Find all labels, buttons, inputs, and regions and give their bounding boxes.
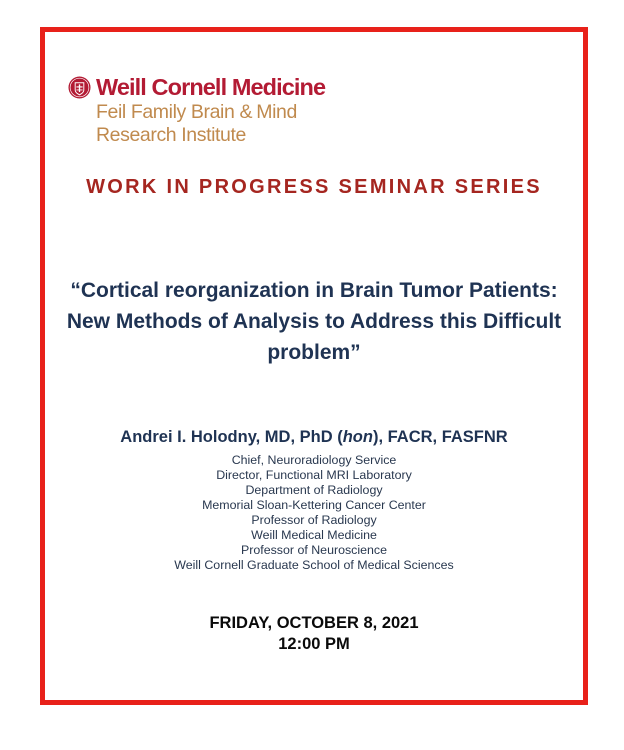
speaker-name-suffix: ), FACR, FASFNR: [373, 428, 508, 446]
red-border-frame: Weill Cornell Medicine Feil Family Brain…: [40, 27, 588, 705]
speaker-name-prefix: Andrei I. Holodny, MD, PhD (: [120, 428, 342, 446]
ampersand: &: [239, 101, 251, 123]
weill-cornell-seal-icon: [68, 76, 91, 99]
speaker-name: Andrei I. Holodny, MD, PhD (hon), FACR, …: [45, 427, 583, 447]
affiliation-line: Professor of Neuroscience: [45, 543, 583, 558]
institute-text-a: Feil Family Brain: [96, 101, 234, 123]
institute-line-2: Research Institute: [96, 125, 488, 146]
logo-row: Weill Cornell Medicine: [68, 76, 488, 100]
affiliation-line: Professor of Radiology: [45, 513, 583, 528]
institute-line-1: Feil Family Brain & Mind: [96, 102, 488, 123]
event-time: 12:00 PM: [45, 634, 583, 655]
weill-cornell-logo: Weill Cornell Medicine Feil Family Brain…: [68, 76, 488, 146]
affiliation-line: Memorial Sloan-Kettering Cancer Center: [45, 498, 583, 513]
affiliation-line: Chief, Neuroradiology Service: [45, 453, 583, 468]
talk-title-line-1: “Cortical reorganization in Brain Tumor …: [63, 275, 565, 306]
affiliation-line: Department of Radiology: [45, 483, 583, 498]
wordmark-text: Weill Cornell Medicine: [96, 76, 325, 100]
affiliation-line: Weill Medical Medicine: [45, 528, 583, 543]
speaker-affiliations: Chief, Neuroradiology Service Director, …: [45, 453, 583, 573]
affiliation-line: Director, Functional MRI Laboratory: [45, 468, 583, 483]
institute-text-b: Mind: [256, 101, 297, 123]
flyer-content: Weill Cornell Medicine Feil Family Brain…: [45, 32, 583, 700]
talk-title-line-3: problem”: [63, 337, 565, 368]
seminar-flyer: Weill Cornell Medicine Feil Family Brain…: [0, 0, 624, 750]
talk-title: “Cortical reorganization in Brain Tumor …: [63, 275, 565, 368]
event-datetime: FRIDAY, OCTOBER 8, 2021 12:00 PM: [45, 613, 583, 655]
speaker-honorary-marker: hon: [343, 428, 373, 446]
talk-title-line-2: New Methods of Analysis to Address this …: [63, 306, 565, 337]
seminar-series-heading: WORK IN PROGRESS SEMINAR SERIES: [45, 176, 583, 199]
event-date: FRIDAY, OCTOBER 8, 2021: [45, 613, 583, 634]
affiliation-line: Weill Cornell Graduate School of Medical…: [45, 558, 583, 573]
